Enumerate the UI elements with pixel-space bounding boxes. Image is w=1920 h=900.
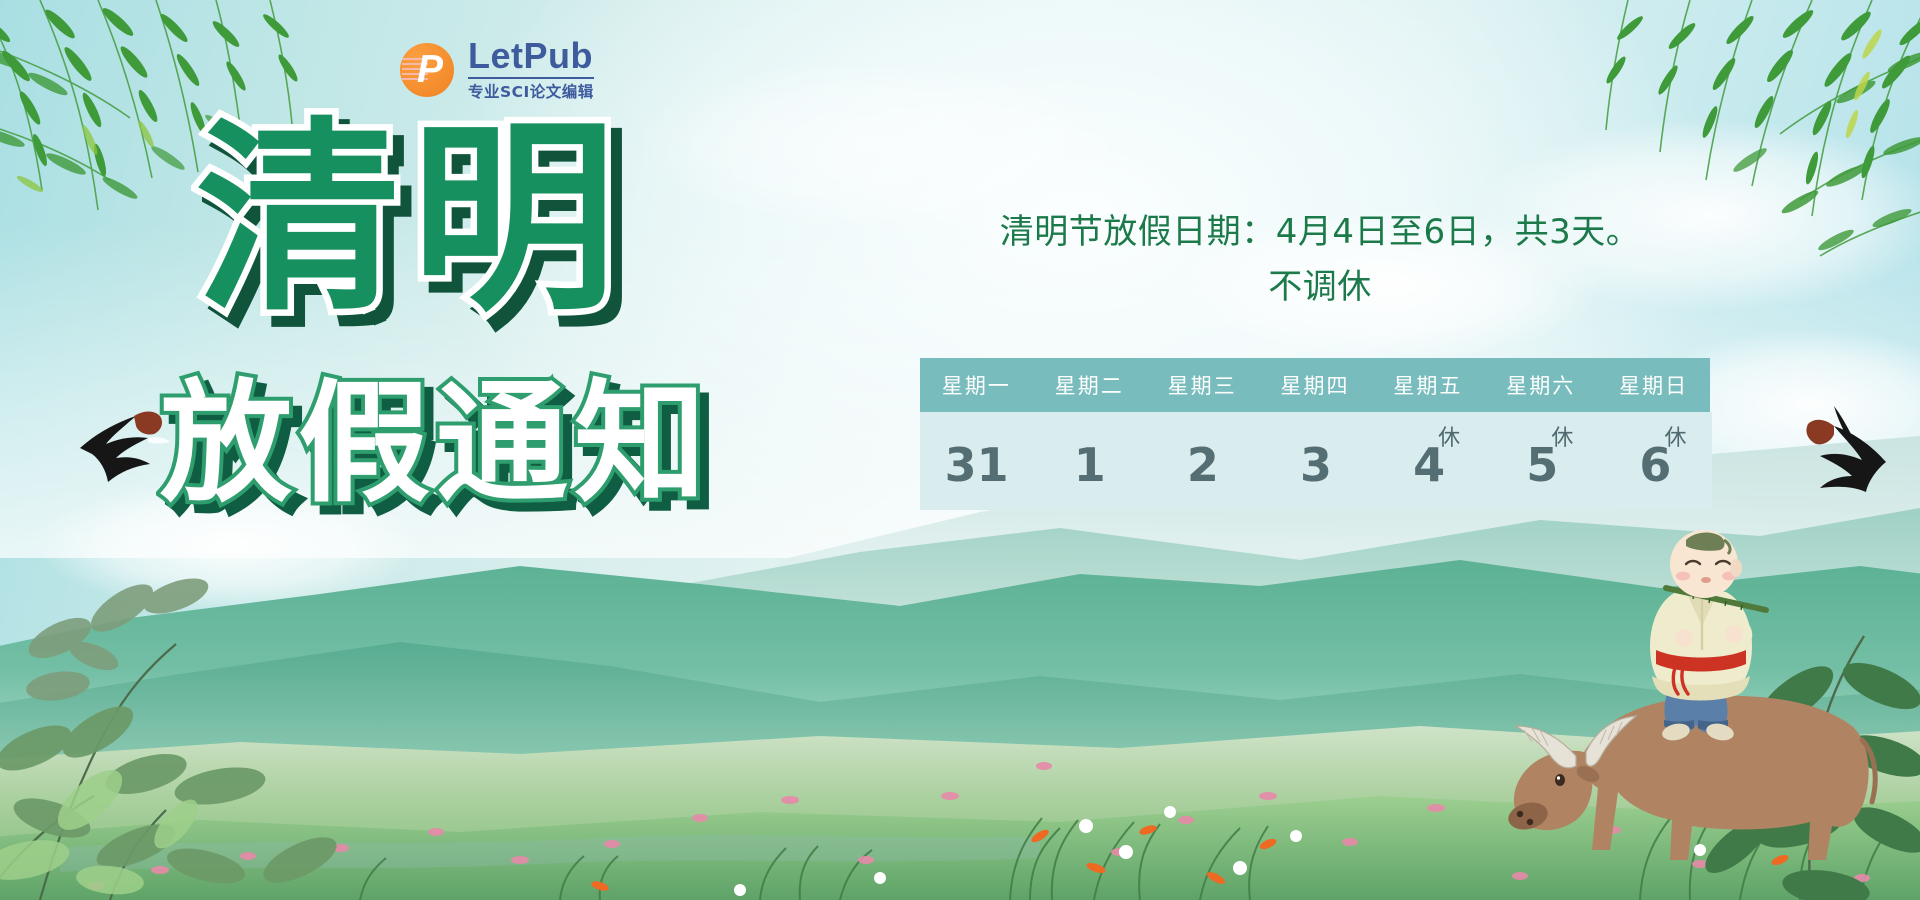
calendar-rest-badge: 休: [1438, 428, 1460, 450]
logo-brand-name: LetPub: [468, 38, 594, 75]
calendar-day-cell: 6 休: [1599, 412, 1712, 510]
poster-canvas: P LetPub 专业SCI论文编辑 清明 放假通知 清明节放假日期：4月4日至…: [0, 0, 1920, 900]
calendar-day-number: 2: [1187, 442, 1219, 488]
calendar-day-cell: 3: [1259, 412, 1372, 510]
calendar-day-cell: 1: [1033, 412, 1146, 510]
calendar-day-number: 31: [945, 442, 1009, 488]
calendar-weekday: 星期日: [1597, 358, 1710, 412]
calendar-weekday: 星期四: [1259, 358, 1372, 412]
letpub-logo[interactable]: P LetPub 专业SCI论文编辑: [400, 38, 594, 102]
notice-line-1: 清明节放假日期：4月4日至6日，共3天。: [930, 205, 1710, 260]
calendar-rest-badge: 休: [1551, 428, 1573, 450]
logo-letter-p: P: [400, 43, 454, 97]
calendar-weekday: 星期三: [1146, 358, 1259, 412]
calendar-header-row: 星期一 星期二 星期三 星期四 星期五 星期六 星期日: [920, 358, 1710, 412]
calendar-weekday: 星期五: [1371, 358, 1484, 412]
logo-divider: [468, 77, 594, 79]
notice-line-2: 不调休: [930, 260, 1710, 315]
calendar-weekday: 星期一: [920, 358, 1033, 412]
holiday-calendar: 星期一 星期二 星期三 星期四 星期五 星期六 星期日 31 1 2 3: [920, 358, 1712, 510]
calendar-day-cell: 5 休: [1486, 412, 1599, 510]
poster-subtitle-holiday-notice: 放假通知: [160, 378, 712, 510]
logo-tagline: 专业SCI论文编辑: [468, 80, 594, 102]
calendar-weekday: 星期二: [1033, 358, 1146, 412]
calendar-day-number: 3: [1300, 442, 1332, 488]
boy-on-buffalo-illustration: [1480, 530, 1880, 860]
calendar-day-cell: 31: [920, 412, 1033, 510]
calendar-rest-badge: 休: [1664, 428, 1686, 450]
calendar-weekday: 星期六: [1484, 358, 1597, 412]
holiday-notice-text: 清明节放假日期：4月4日至6日，共3天。 不调休: [930, 205, 1710, 315]
poster-title-qingming: 清明: [196, 118, 626, 323]
calendar-day-cell: 4 休: [1373, 412, 1486, 510]
letpub-mark-icon: P: [400, 43, 454, 97]
swallow-icon-right: [1790, 400, 1910, 500]
calendar-day-row: 31 1 2 3 4 休 5 休: [920, 412, 1712, 510]
calendar-day-cell: 2: [1146, 412, 1259, 510]
calendar-day-number: 1: [1074, 442, 1106, 488]
logo-wordmark: LetPub 专业SCI论文编辑: [468, 38, 594, 102]
